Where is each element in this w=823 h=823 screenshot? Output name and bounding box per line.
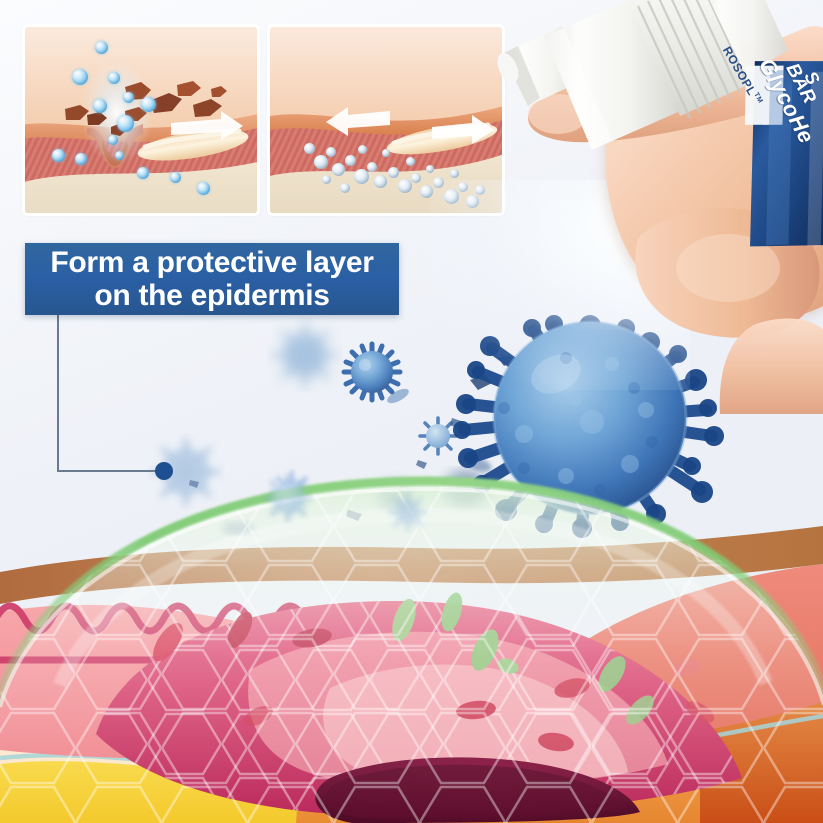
virus-particle xyxy=(344,344,400,400)
absorbed-droplet xyxy=(466,195,479,208)
spray-droplet xyxy=(141,97,156,112)
absorbed-droplet xyxy=(326,147,336,157)
absorbed-droplet xyxy=(406,157,415,166)
absorbed-droplet xyxy=(374,175,387,188)
spray-droplet xyxy=(52,149,65,162)
inset-panel-healed-skin xyxy=(270,27,502,213)
surface-microbes xyxy=(230,450,630,570)
absorbed-droplet xyxy=(354,169,369,184)
spray-droplet xyxy=(123,92,134,103)
absorbed-droplet xyxy=(322,175,331,184)
absorbed-droplet xyxy=(382,149,390,157)
absorbed-droplet xyxy=(332,163,345,176)
callout-line-1: Form a protective layer xyxy=(50,246,373,279)
absorbed-droplet xyxy=(411,173,421,183)
absorbed-droplet xyxy=(340,183,350,193)
spray-droplet xyxy=(93,99,107,113)
absorbed-droplet xyxy=(314,155,328,169)
absorbed-droplet xyxy=(433,177,444,188)
absorbed-droplet xyxy=(388,167,399,178)
spray-droplet xyxy=(197,182,210,195)
absorbed-droplet xyxy=(444,189,459,204)
spray-droplet xyxy=(170,172,181,183)
spray-droplet xyxy=(72,69,88,85)
absorbed-droplet xyxy=(458,182,468,192)
absorbed-droplet xyxy=(304,143,315,154)
absorbed-droplet xyxy=(345,155,356,166)
absorbed-droplet xyxy=(450,169,459,178)
absorbed-droplet xyxy=(367,162,377,172)
inset-a-illustration xyxy=(25,27,257,213)
spray-droplet xyxy=(137,167,149,179)
absorbed-droplet xyxy=(358,145,367,154)
absorbed-droplet xyxy=(398,179,412,193)
absorbed-droplet xyxy=(420,185,433,198)
spray-droplet xyxy=(95,41,108,54)
spray-droplet xyxy=(75,153,87,165)
absorbed-droplet xyxy=(426,165,434,173)
virus-particle-on-barrier xyxy=(266,476,310,520)
spray-droplet xyxy=(115,151,124,160)
spray-droplet xyxy=(108,135,118,145)
spray-droplet xyxy=(108,72,120,84)
virus-particle-blurred xyxy=(274,324,336,386)
hand-holding-spray-bottle: ROSOPLTM GlycoHe BAR S xyxy=(488,0,823,414)
virus-particle-on-barrier xyxy=(390,494,426,530)
infographic-canvas: Form a protective layer on the epidermis xyxy=(0,0,823,823)
inset-panel-spray-on-wound xyxy=(25,27,257,213)
callout-text-box: Form a protective layer on the epidermis xyxy=(25,243,399,315)
spray-droplet xyxy=(117,115,134,132)
absorbed-droplet xyxy=(475,185,485,195)
callout-line-2: on the epidermis xyxy=(94,279,329,312)
